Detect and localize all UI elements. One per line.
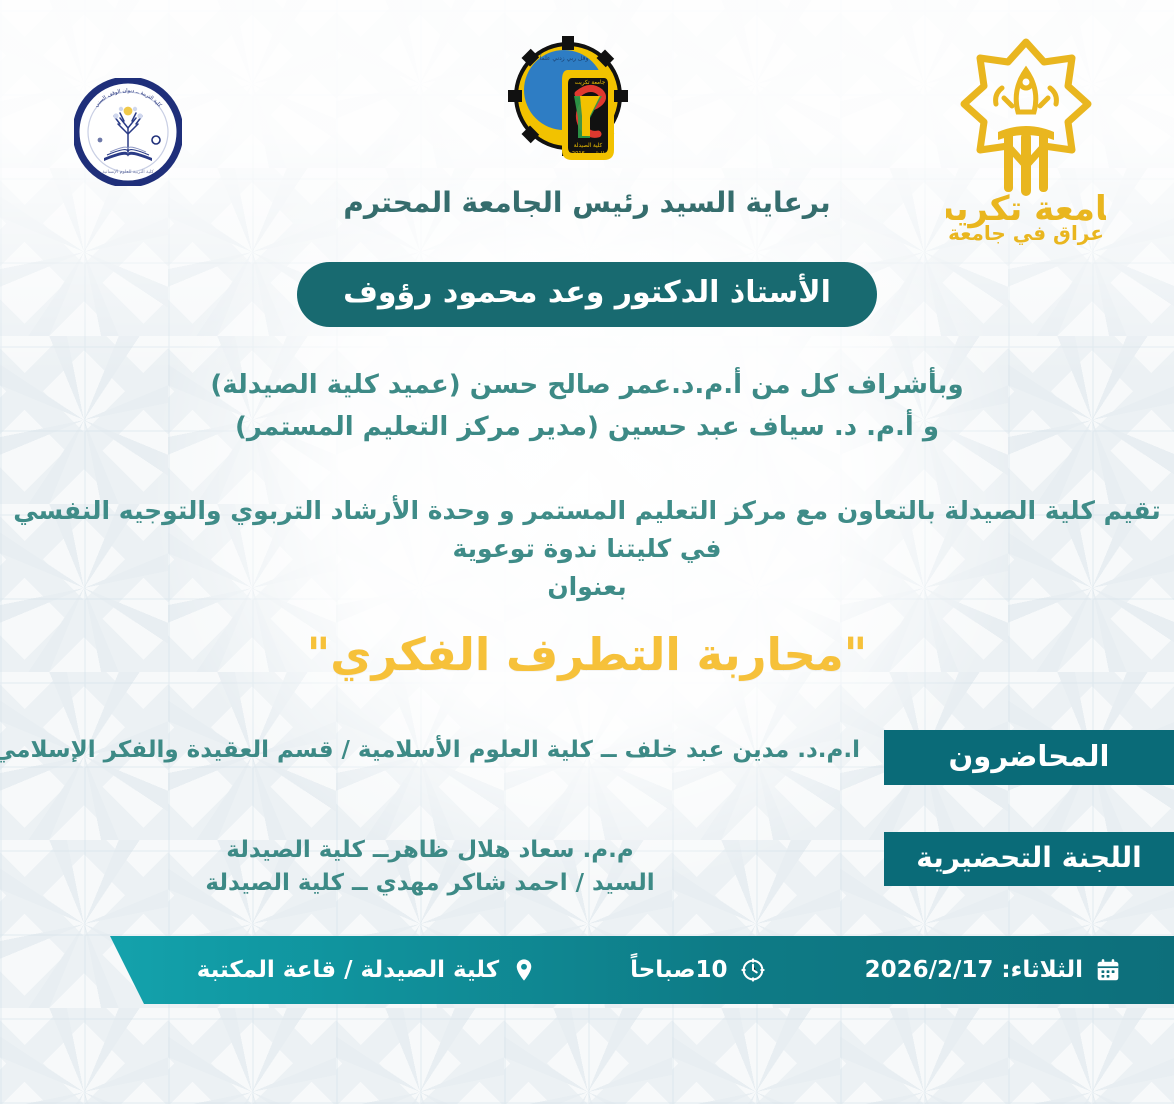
svg-text:للبنات ــ 2016: للبنات ــ 2016 [572, 151, 605, 157]
organiser-line-3: بعنوان [0, 568, 1174, 606]
committee-entry: م.م. سعاد هلال ظاهرــ كلية الصيدلة [0, 834, 860, 867]
clock-icon [739, 956, 767, 984]
event-time-text: 10صباحاً [630, 957, 727, 983]
committee-bar-holder: اللجنة التحضيرية [860, 832, 1174, 886]
organiser-paragraph: تقيم كلية الصيدلة بالتعاون مع مركز التعل… [0, 492, 1174, 606]
speakers-list: ا.م.د. مدين عبد خلف ــ كلية العلوم الأسل… [0, 730, 860, 767]
college-of-education-seal-logo: كلية التربية ــ ديوان الوقف السني [74, 78, 182, 186]
event-details-banner: الثلاثاء: 2026/2/17 10صباحاً [110, 936, 1174, 1004]
svg-text:كلية الصيدلة: كلية الصيدلة [574, 142, 603, 149]
event-location: كلية الصيدلة / قاعة المكتبة [197, 956, 538, 984]
event-location-text: كلية الصيدلة / قاعة المكتبة [197, 957, 499, 983]
calendar-icon [1094, 956, 1122, 984]
patron-line: برعاية السيد رئيس الجامعة المحترم [0, 186, 1174, 219]
event-date: الثلاثاء: 2026/2/17 [865, 956, 1122, 984]
president-name-text: الأستاذ الدكتور وعد محمود رؤوف [297, 262, 877, 327]
supervision-line-1: وبأشراف كل من أ.م.د.عمر صالح حسن (عميد ك… [0, 364, 1174, 406]
college-of-pharmacy-emblem-logo: وقل ربي زدني علماً كلية الصيدلة للبنات ـ… [506, 34, 638, 174]
seminar-poster: كلية التربية ــ ديوان الوقف السني [0, 0, 1174, 1104]
supervision-block: وبأشراف كل من أ.م.د.عمر صالح حسن (عميد ك… [0, 364, 1174, 448]
committee-section: اللجنة التحضيرية م.م. سعاد هلال ظاهرــ ك… [0, 832, 1174, 901]
svg-text:عراق في جامعة: عراق في جامعة [948, 221, 1104, 246]
speakers-section-label: المحاضرون [884, 730, 1174, 785]
event-date-text: الثلاثاء: 2026/2/17 [865, 957, 1083, 983]
speakers-section: المحاضرون ا.م.د. مدين عبد خلف ــ كلية ال… [0, 730, 1174, 785]
svg-text:كلية التربية للعلوم الإنسانية: كلية التربية للعلوم الإنسانية [102, 169, 154, 175]
speaker-entry: ا.م.د. مدين عبد خلف ــ كلية العلوم الأسل… [0, 734, 860, 767]
logo-row: كلية التربية ــ ديوان الوقف السني [0, 0, 1174, 260]
organiser-line-2: في كليتنا ندوة توعوية [0, 530, 1174, 568]
committee-entry: السيد / احمد شاكر مهدي ــ كلية الصيدلة [0, 867, 860, 900]
map-pin-icon [510, 956, 538, 984]
svg-text:جامعة تكريت: جامعة تكريت [575, 79, 606, 86]
seminar-title: "محاربة التطرف الفكري" [0, 628, 1174, 681]
svg-text:وقل ربي زدني علماً: وقل ربي زدني علماً [539, 54, 588, 62]
supervision-line-2: و أ.م. د. سياف عبد حسين (مدير مركز التعل… [0, 406, 1174, 448]
event-time: 10صباحاً [630, 956, 766, 984]
committee-section-label: اللجنة التحضيرية [884, 832, 1174, 886]
committee-list: م.م. سعاد هلال ظاهرــ كلية الصيدلة السيد… [0, 832, 860, 901]
president-name-banner: الأستاذ الدكتور وعد محمود رؤوف [0, 262, 1174, 327]
speakers-bar-holder: المحاضرون [860, 730, 1174, 785]
organiser-line-1: تقيم كلية الصيدلة بالتعاون مع مركز التعل… [0, 492, 1174, 530]
